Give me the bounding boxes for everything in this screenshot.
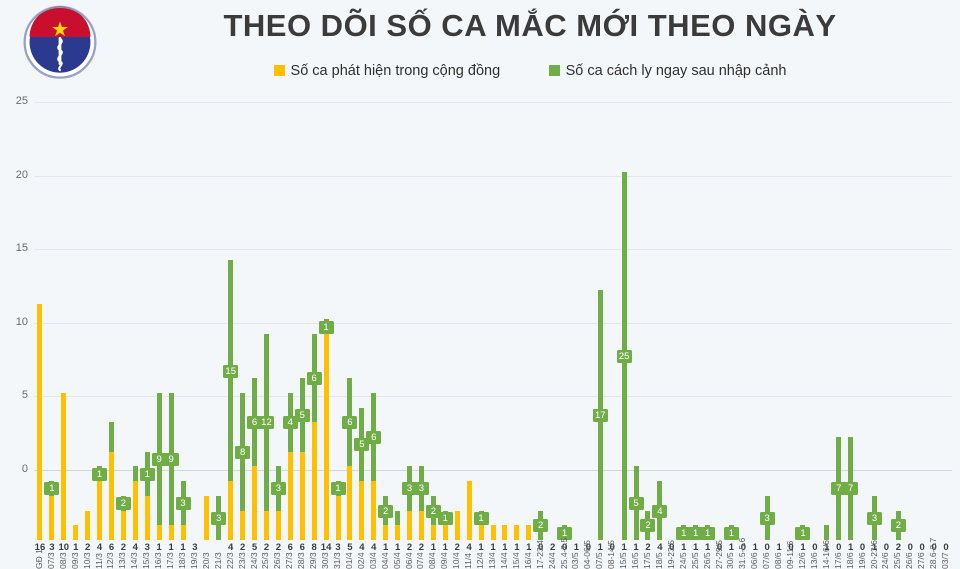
bar-column[interactable]: 1124/5: [679, 162, 689, 540]
x-axis-tick-label: 17/5: [642, 552, 652, 569]
bar-segment-community[interactable]: [37, 304, 42, 540]
x-axis-tick-label: 18/5: [654, 552, 664, 569]
bar-column[interactable]: 027-29/5: [715, 162, 725, 540]
x-axis-tick-label: 23/3: [237, 552, 247, 569]
x-axis-tick-label: 11/4: [463, 553, 473, 569]
bar-column[interactable]: 319/3: [190, 162, 200, 540]
bar-column[interactable]: 5116/5: [631, 162, 641, 540]
x-axis-tick-label: 30/5: [725, 552, 735, 569]
bar-column[interactable]: 25115/5: [619, 162, 629, 540]
bar-segment-community[interactable]: [109, 452, 114, 540]
bar-column[interactable]: 116/4: [524, 162, 534, 540]
bar-column[interactable]: 20/3: [202, 162, 212, 540]
x-axis-tick-label: 27-29/5: [714, 540, 724, 569]
bar-segment-community[interactable]: [347, 466, 352, 540]
bar-value-label: 25: [617, 350, 632, 363]
bar-segment-community[interactable]: [455, 511, 460, 540]
bar-column[interactable]: 1008/3: [59, 162, 69, 540]
bar-value-label: 2: [116, 497, 131, 510]
bar-value-label: 3: [414, 482, 429, 495]
x-axis-tick-label: 07/6: [761, 552, 771, 569]
y-axis-tick-label: 25: [0, 95, 28, 107]
bar-column[interactable]: 2213/3: [118, 162, 128, 540]
bar-column[interactable]: 115/4: [512, 162, 522, 540]
bar-value-label: 9: [164, 453, 179, 466]
bar-value-label: 1: [331, 482, 346, 495]
bar-value-label: 1: [44, 482, 59, 495]
x-axis-tick-label: 05/4: [392, 552, 402, 569]
bar-value-label: 15: [223, 365, 238, 378]
bar-column[interactable]: 17107/5: [595, 162, 605, 540]
x-axis-tick-label: 19-23/5: [666, 540, 676, 569]
bar-segment-quarantine[interactable]: [109, 422, 114, 451]
bar-value-label: 1: [319, 321, 334, 334]
bar-column[interactable]: 210/4: [452, 162, 462, 540]
x-axis-tick-label: 03/5: [570, 552, 580, 569]
y-axis-tick-label: 20: [0, 169, 28, 181]
bar-column[interactable]: 6524/3: [250, 162, 260, 540]
bar-column[interactable]: 612/3: [106, 162, 116, 540]
x-axis-tick-label: 25/5: [690, 552, 700, 569]
bar-column[interactable]: 414/3: [130, 162, 140, 540]
x-axis-tick-label: 29/3: [308, 552, 318, 569]
y-axis-tick-label: 0: [0, 463, 28, 475]
bar-value-label: 6: [307, 372, 322, 385]
x-axis-tick-label: 06/6: [749, 552, 759, 569]
bar-column[interactable]: 028.6-2.7: [929, 162, 939, 540]
bar-column[interactable]: 3118/3: [178, 162, 188, 540]
bar-value-label: 1: [438, 512, 453, 525]
bar-column[interactable]: 008-14/5: [607, 162, 617, 540]
legend-swatch-community: [274, 65, 285, 76]
bar-column[interactable]: 9117/3: [166, 162, 176, 540]
bar-value-label: 3: [211, 512, 226, 525]
bar-column[interactable]: 019-23/5: [667, 162, 677, 540]
x-axis-tick-label: 22/3: [225, 552, 235, 569]
x-axis-tick-label: 09-11/6: [785, 541, 795, 569]
x-axis-tick-label: 24/6: [880, 552, 890, 569]
x-axis-tick-label: 15/4: [511, 552, 521, 569]
bar-column[interactable]: 3007/6: [762, 162, 772, 540]
bar-column[interactable]: 1331/3: [333, 162, 343, 540]
x-axis-tick-label: 01/4: [344, 552, 354, 569]
x-axis-tick-label: 16/3: [153, 552, 163, 569]
x-axis-tick-label: 26/3: [272, 552, 282, 569]
x-axis-tick-label: 21/3: [213, 552, 223, 569]
bar-column[interactable]: 106/6: [750, 162, 760, 540]
bar-column[interactable]: 003/7: [941, 162, 951, 540]
x-axis-tick-label: 02/4: [356, 552, 366, 569]
bar-value-label: 8: [235, 446, 250, 459]
bar-column[interactable]: 2217/5: [643, 162, 653, 540]
bar-segment-community[interactable]: [336, 496, 341, 540]
bar-column[interactable]: 6829/3: [309, 162, 319, 540]
bar-column[interactable]: 3226/3: [273, 162, 283, 540]
x-axis-tick-label: 25/5: [892, 552, 902, 569]
x-axis-tick-label: 28.6-2.7: [928, 538, 938, 569]
x-axis-tick-label: 12/6: [797, 552, 807, 569]
x-axis-tick-label: 16/5: [630, 552, 640, 569]
x-axis-tick-label: 14/4: [499, 552, 509, 569]
bar-segment-community[interactable]: [61, 393, 66, 540]
bar-value-label: 1: [92, 468, 107, 481]
x-axis-tick-label: 07/3: [46, 552, 56, 569]
bar-segment-community[interactable]: [526, 525, 531, 540]
legend-item-quarantine[interactable]: Số ca cách ly ngay sau nhập cảnh: [549, 63, 787, 79]
x-axis-tick-label: 08/4: [427, 552, 437, 569]
bar-segment-community[interactable]: [479, 525, 484, 540]
bar-column[interactable]: 6501/4: [345, 162, 355, 540]
bar-value-label: 2: [378, 505, 393, 518]
bar-segment-community[interactable]: [157, 525, 162, 540]
x-axis-tick-label: 10/4: [451, 552, 461, 569]
x-axis-tick-label: 19/3: [189, 552, 199, 569]
x-axis-tick-label: 15/5: [618, 552, 628, 569]
bar-column[interactable]: 2108/4: [428, 162, 438, 540]
legend-label-community: Số ca phát hiện trong cộng đồng: [291, 63, 501, 79]
bar-segment-community[interactable]: [264, 511, 269, 540]
bar-column[interactable]: 109/3: [71, 162, 81, 540]
bar-segment-community[interactable]: [312, 422, 317, 540]
bar-column[interactable]: 411/4: [464, 162, 474, 540]
y-axis-tick-label: 5: [0, 389, 28, 401]
x-axis-tick-label: GĐ 1: [34, 549, 44, 569]
x-axis-tick-label: 20/3: [201, 552, 211, 569]
bar-column[interactable]: 1307/3: [47, 162, 57, 540]
chart-legend: Số ca phát hiện trong cộng đồng Số ca cá…: [120, 62, 940, 80]
bar-value-label: 2: [891, 519, 906, 532]
x-axis-tick-label: 25.4-2.5: [559, 538, 569, 569]
x-axis-tick-label: 31/3: [332, 552, 342, 569]
x-axis-tick-label: 13/3: [117, 552, 127, 569]
bar-column[interactable]: 8223/3: [238, 162, 248, 540]
bar-column[interactable]: 11430/3: [321, 162, 331, 540]
x-axis-tick-label: 17/3: [165, 552, 175, 569]
x-axis-tick-label: 11/3: [94, 553, 104, 569]
bar-value-label: 5: [629, 497, 644, 510]
y-axis-tick-label: 15: [0, 242, 28, 254]
x-axis-tick-label: 06/4: [404, 552, 414, 569]
bar-segment-community[interactable]: [181, 525, 186, 540]
legend-item-community[interactable]: Số ca phát hiện trong cộng đồng: [274, 63, 501, 79]
bar-series-container: 16GĐ 11307/31008/3109/3210/31411/3612/32…: [34, 92, 952, 540]
bar-column[interactable]: 15422/3: [226, 162, 236, 540]
legend-swatch-quarantine: [549, 65, 560, 76]
x-axis-tick-label: 12/3: [105, 552, 115, 569]
bar-column[interactable]: 1112/4: [476, 162, 486, 540]
bar-segment-community[interactable]: [395, 525, 400, 540]
bar-column[interactable]: 1411/3: [95, 162, 105, 540]
chart-header: THEO DÕI SỐ CA MẮC MỚI THEO NGÀY Số ca p…: [0, 0, 960, 92]
x-axis-tick-label: 17-23/4: [535, 540, 545, 569]
bar-segment-community[interactable]: [467, 481, 472, 540]
bar-column[interactable]: 3207/4: [416, 162, 426, 540]
bar-column[interactable]: 7118/6: [846, 162, 856, 540]
bar-column[interactable]: 031.5-5.6: [738, 162, 748, 540]
bar-column[interactable]: 026/6: [905, 162, 915, 540]
bar-segment-quarantine[interactable]: [824, 525, 829, 540]
bar-value-label: 3: [176, 497, 191, 510]
bar-segment-community[interactable]: [73, 525, 78, 540]
x-axis-tick-label: 03/7: [940, 552, 950, 569]
bar-column[interactable]: 224/4: [548, 162, 558, 540]
x-axis-tick-label: 27/6: [916, 552, 926, 569]
x-axis-tick-label: 24/3: [249, 552, 259, 569]
bar-segment-community[interactable]: [252, 466, 257, 540]
bar-column[interactable]: 1025.4-2.5: [560, 162, 570, 540]
x-axis-tick-label: 17/6: [833, 552, 843, 569]
x-axis-tick-label: 27/3: [284, 552, 294, 569]
bar-column[interactable]: 4418/5: [655, 162, 665, 540]
bar-column[interactable]: 3120-23/6: [870, 162, 880, 540]
x-axis-tick-label: 14/3: [129, 552, 139, 569]
bar-segment-community[interactable]: [431, 525, 436, 540]
bar-value-label: 3: [760, 512, 775, 525]
x-axis-tick-label: 14-16/6: [821, 540, 831, 569]
bar-value-label: 12: [259, 416, 274, 429]
bar-column[interactable]: 027/6: [917, 162, 927, 540]
bar-column[interactable]: 1109/4: [440, 162, 450, 540]
bar-column[interactable]: 4627/3: [285, 162, 295, 540]
bar-value-label: 6: [342, 416, 357, 429]
bar-value-label: 2: [640, 519, 655, 532]
bar-value-label: 3: [271, 482, 286, 495]
x-axis-tick-label: 20-23/6: [869, 540, 879, 569]
bar-column[interactable]: 6403/4: [369, 162, 379, 540]
bar-column[interactable]: 1315/3: [142, 162, 152, 540]
bar-column[interactable]: 2017-23/4: [536, 162, 546, 540]
y-axis-tick-label: 10: [0, 316, 28, 328]
x-axis-tick-label: 07/4: [415, 552, 425, 569]
x-axis-tick-label: 07/5: [594, 552, 604, 569]
x-axis-tick-label: 16/4: [523, 552, 533, 569]
bar-segment-community[interactable]: [383, 525, 388, 540]
bar-segment-community[interactable]: [276, 511, 281, 540]
bar-segment-community[interactable]: [300, 452, 305, 540]
x-axis-tick-label: 04/4: [380, 552, 390, 569]
x-axis-tick-label: 26/5: [702, 552, 712, 569]
bar-column[interactable]: 013/6: [810, 162, 820, 540]
x-axis-tick-label: 18/6: [845, 552, 855, 569]
x-axis-tick-label: 28/3: [296, 552, 306, 569]
bar-column[interactable]: 2104/4: [381, 162, 391, 540]
x-axis-tick-label: 08-14/5: [606, 540, 616, 569]
bar-segment-community[interactable]: [491, 525, 496, 540]
page-title: THEO DÕI SỐ CA MẮC MỚI THEO NGÀY: [120, 8, 940, 44]
bar-segment-community[interactable]: [97, 481, 102, 540]
ministry-of-health-logo-icon: [14, 4, 106, 84]
x-axis-tick-label: 19/6: [857, 552, 867, 569]
bar-column[interactable]: 024/6: [881, 162, 891, 540]
x-axis-tick-label: 30/3: [320, 552, 330, 569]
bar-segment-community[interactable]: [371, 481, 376, 540]
x-axis-tick-label: 24/5: [678, 552, 688, 569]
x-axis-tick-label: 31.5-5.6: [737, 538, 747, 569]
bar-column[interactable]: 114/4: [500, 162, 510, 540]
bar-column[interactable]: 5402/4: [357, 162, 367, 540]
bar-value-label: 7: [843, 482, 858, 495]
x-axis-tick-label: 26/6: [904, 552, 914, 569]
bar-column[interactable]: 321/3: [214, 162, 224, 540]
bar-value-label: 5: [295, 409, 310, 422]
bar-column[interactable]: 1126/5: [703, 162, 713, 540]
bar-column[interactable]: 009-11/6: [786, 162, 796, 540]
bar-segment-community[interactable]: [145, 496, 150, 540]
bar-column[interactable]: 9116/3: [154, 162, 164, 540]
bar-column[interactable]: 210/3: [83, 162, 93, 540]
bar-segment-community[interactable]: [502, 525, 507, 540]
bar-segment-community[interactable]: [228, 481, 233, 540]
bar-value-label: 1: [474, 512, 489, 525]
x-axis-tick-label: 12/4: [475, 552, 485, 569]
x-axis-tick-label: 18/3: [177, 552, 187, 569]
bar-column[interactable]: 108/6: [774, 162, 784, 540]
bar-segment-community[interactable]: [169, 525, 174, 540]
bar-value-label: 1: [700, 527, 715, 540]
bar-column[interactable]: 004-06/5: [583, 162, 593, 540]
bar-value-label: 2: [533, 519, 548, 532]
x-axis-tick-label: 24/4: [547, 552, 557, 569]
x-axis-tick-label: 10/3: [82, 552, 92, 569]
bar-segment-community[interactable]: [324, 334, 329, 540]
bar-segment-community[interactable]: [443, 525, 448, 540]
x-axis-tick-label: 09/4: [439, 552, 449, 569]
bar-segment-community[interactable]: [121, 511, 126, 540]
bar-segment-community[interactable]: [240, 511, 245, 540]
x-axis-tick-label: 03/4: [368, 552, 378, 569]
bar-segment-community[interactable]: [288, 452, 293, 540]
bar-segment-quarantine[interactable]: [133, 466, 138, 481]
bar-column[interactable]: 1125/5: [691, 162, 701, 540]
bar-column[interactable]: 113/4: [488, 162, 498, 540]
x-axis-tick-label: 08/6: [773, 552, 783, 569]
bar-value-label: 1: [795, 527, 810, 540]
bar-column[interactable]: 12225/3: [261, 162, 271, 540]
bar-value-label: 6: [366, 431, 381, 444]
bar-column[interactable]: 019/6: [858, 162, 868, 540]
bar-segment-community[interactable]: [514, 525, 519, 540]
chart-plot-area: 0510152025 16GĐ 11307/31008/3109/3210/31…: [0, 92, 960, 540]
bar-value-label: 1: [140, 468, 155, 481]
bar-column[interactable]: 1130/5: [726, 162, 736, 540]
bar-value-label: 4: [652, 505, 667, 518]
x-axis-tick-label: 13/6: [809, 552, 819, 569]
bar-value-label: 17: [593, 409, 608, 422]
legend-label-quarantine: Số ca cách ly ngay sau nhập cảnh: [566, 63, 787, 79]
x-axis-tick-label: 04-06/5: [582, 540, 592, 569]
bar-segment-community[interactable]: [133, 481, 138, 540]
bar-segment-community[interactable]: [204, 496, 209, 540]
bar-column[interactable]: 5628/3: [297, 162, 307, 540]
x-axis-tick-label: 25/3: [260, 552, 270, 569]
bar-column[interactable]: 2225/5: [893, 162, 903, 540]
bar-segment-community[interactable]: [419, 511, 424, 540]
bar-segment-community[interactable]: [85, 511, 90, 540]
bar-segment-community[interactable]: [407, 511, 412, 540]
x-axis-tick-label: 15/3: [141, 552, 151, 569]
bar-column[interactable]: 103/5: [571, 162, 581, 540]
bar-segment-quarantine[interactable]: [395, 511, 400, 526]
bar-segment-community[interactable]: [49, 496, 54, 540]
bar-value-label: 3: [867, 512, 882, 525]
x-axis-tick-label: 13/4: [487, 552, 497, 569]
x-axis-tick-label: 09/3: [70, 552, 80, 569]
x-axis-tick-label: 08/3: [58, 552, 68, 569]
bar-column[interactable]: 1112/6: [798, 162, 808, 540]
bar-segment-community[interactable]: [359, 481, 364, 540]
